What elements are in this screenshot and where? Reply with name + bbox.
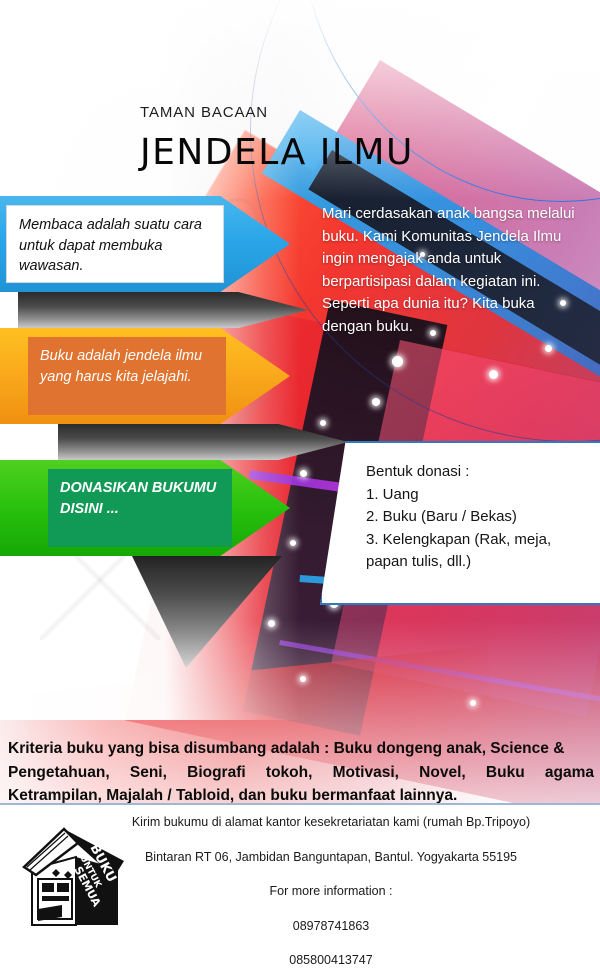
hero-paragraph: Mari cerdasakan anak bangsa melalui buku… — [322, 203, 588, 338]
chevron-separator-2 — [58, 424, 348, 460]
banner-orange-text: Buku adalah jendela ilmu yang harus kita… — [28, 337, 226, 415]
background-sparkle — [545, 345, 552, 352]
donation-item-2: 2. Buku (Baru / Bekas) — [366, 506, 591, 529]
chevron-stack: Membaca adalah suatu cara untuk dapat me… — [0, 196, 300, 668]
background-sparkle — [300, 470, 307, 477]
page-title: JENDELA ILMU — [140, 135, 414, 171]
donation-item-3-cont: papan tulis, dll.) — [366, 551, 591, 574]
criteria-paragraph: Kriteria buku yang bisa disumbang adalah… — [8, 737, 594, 808]
footer-more-info-label: For more information : — [96, 885, 566, 898]
background-sparkle — [372, 398, 380, 406]
criteria-line-2: Pengetahuan, Seni, Biografi tokoh, Motiv… — [8, 761, 594, 785]
poster-header: TAMAN BACAAN JENDELA ILMU — [140, 104, 414, 171]
background-sparkle — [392, 356, 403, 367]
donation-heading: Bentuk donasi : — [366, 461, 591, 484]
banner-orange: Buku adalah jendela ilmu yang harus kita… — [0, 328, 290, 424]
poster-root: TAMAN BACAAN JENDELA ILMU Membaca adalah… — [0, 0, 600, 973]
chevron-separator-1 — [18, 292, 308, 328]
donation-item-1: 1. Uang — [366, 484, 591, 507]
chevron-tail-shape — [132, 556, 282, 668]
donation-card-content: Bentuk donasi : 1. Uang 2. Buku (Baru / … — [366, 461, 591, 574]
kicker-text: TAMAN BACAAN — [140, 104, 414, 121]
footer-divider — [0, 803, 600, 805]
background-sparkle — [489, 370, 498, 379]
donation-card: Bentuk donasi : 1. Uang 2. Buku (Baru / … — [320, 441, 600, 605]
banner-blue-text: Membaca adalah suatu cara untuk dapat me… — [6, 205, 224, 283]
chevron-separator-shape — [18, 292, 308, 328]
footer-address-intro: Kirim bukumu di alamat kantor kesekretar… — [96, 816, 566, 829]
footer-phone-2: 085800413747 — [96, 954, 566, 967]
banner-blue: Membaca adalah suatu cara untuk dapat me… — [0, 196, 290, 292]
banner-green-text: DONASIKAN BUKUMU DISINI ... — [48, 469, 232, 547]
banner-green: DONASIKAN BUKUMU DISINI ... — [0, 460, 290, 556]
footer-text-block: Kirim bukumu di alamat kantor kesekretar… — [96, 809, 566, 967]
footer-phone-1: 08978741863 — [96, 920, 566, 933]
chevron-tail-triangle — [132, 556, 282, 668]
donation-item-3: 3. Kelengkapan (Rak, meja, — [366, 529, 591, 552]
criteria-line-1: Kriteria buku yang bisa disumbang adalah… — [8, 737, 594, 761]
footer-address: Bintaran RT 06, Jambidan Banguntapan, Ba… — [96, 851, 566, 864]
poster-footer: BUKU UNTUK SEMUA Kirim bukumu di alamat … — [0, 805, 600, 973]
chevron-separator-shape — [58, 424, 348, 460]
